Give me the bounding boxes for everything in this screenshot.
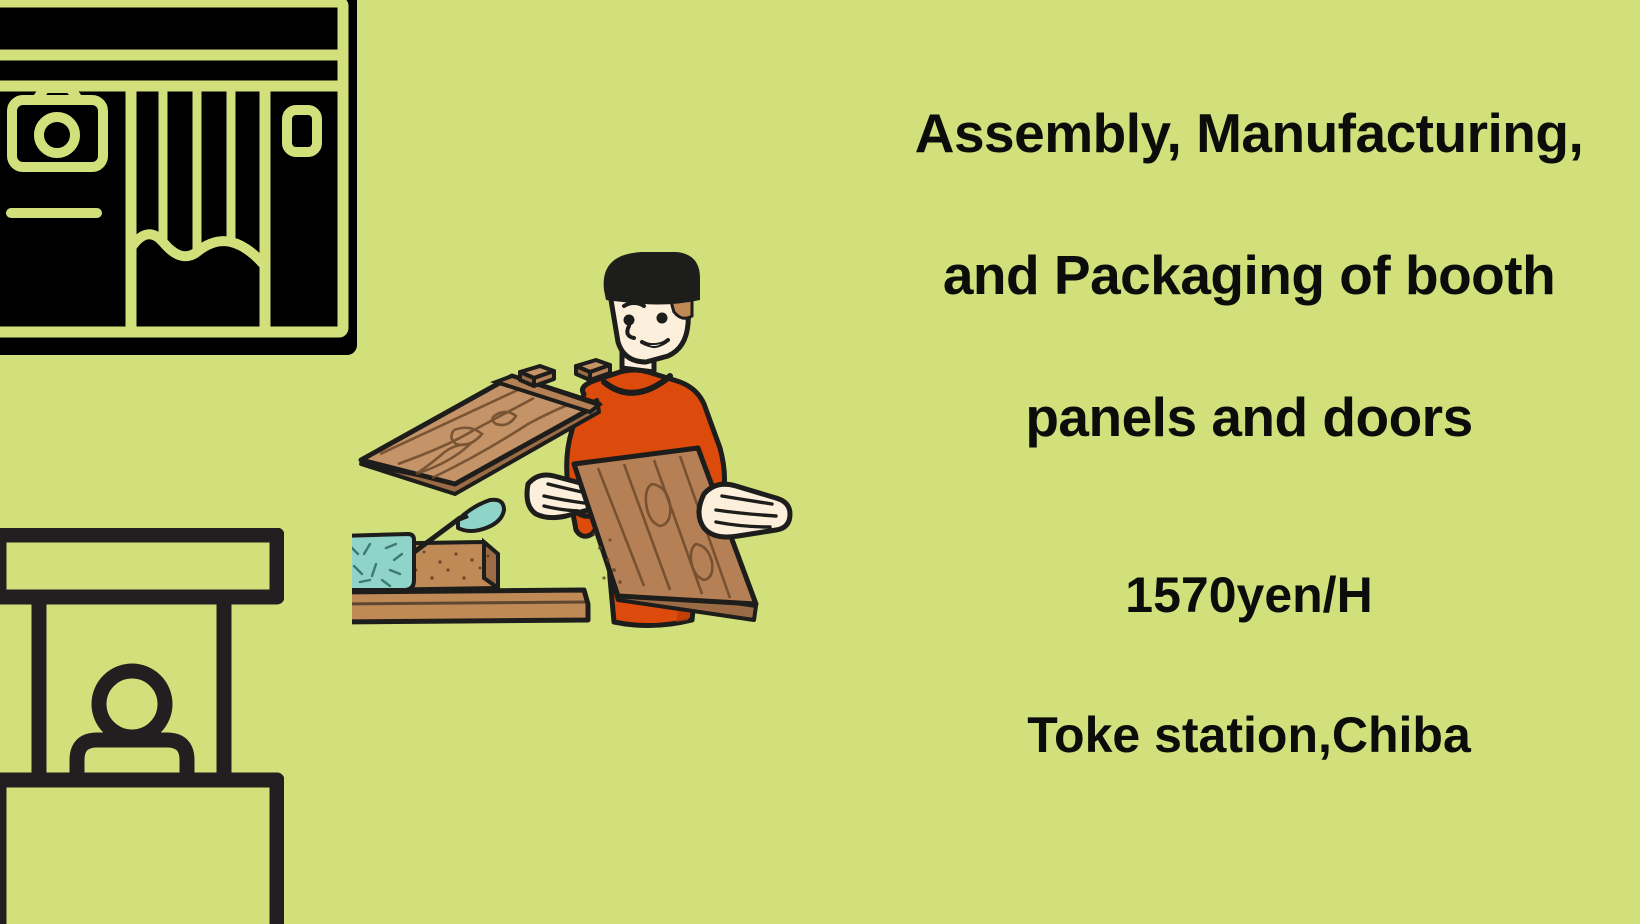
headline-line-3: panels and doors xyxy=(858,346,1640,488)
job-text-column: Assembly, Manufacturing, and Packaging o… xyxy=(858,0,1640,924)
job-advert-poster: Assembly, Manufacturing, and Packaging o… xyxy=(0,0,1640,924)
photo-booth-icon xyxy=(0,0,357,355)
carpenter-illustration xyxy=(352,248,832,648)
wage-text: 1570yen/H xyxy=(858,560,1640,630)
headline-line-1: Assembly, Manufacturing, xyxy=(858,62,1640,204)
headline-line-2: and Packaging of booth xyxy=(858,204,1640,346)
location-text: Toke station,Chiba xyxy=(858,700,1640,770)
booth-kiosk-person-icon xyxy=(0,528,284,924)
headline: Assembly, Manufacturing, and Packaging o… xyxy=(858,62,1640,488)
